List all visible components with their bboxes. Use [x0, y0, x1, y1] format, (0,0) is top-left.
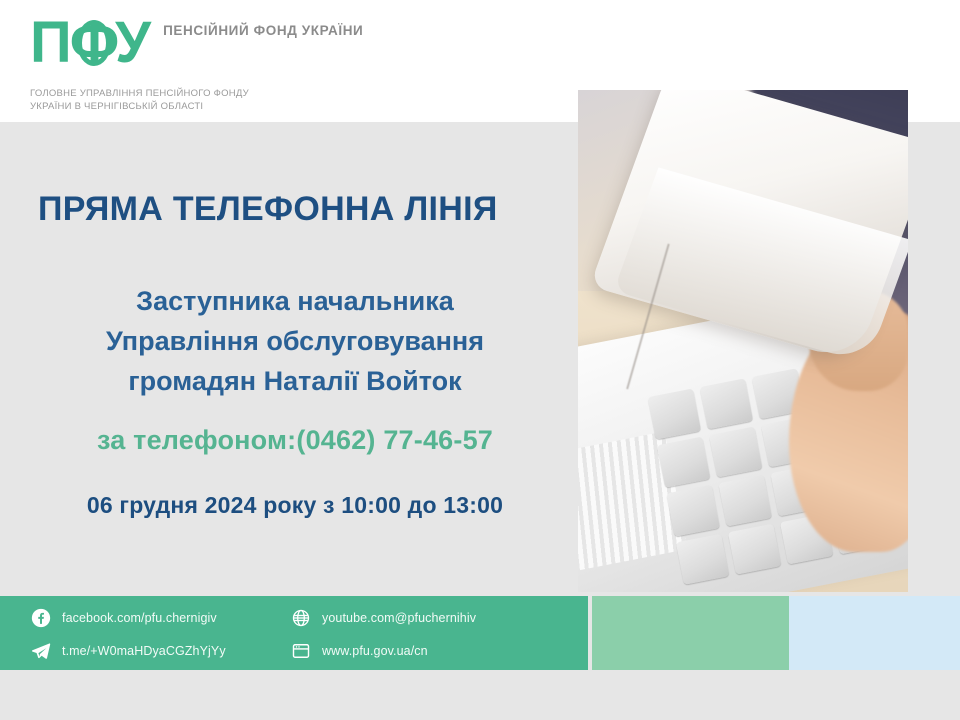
footer-link-youtube[interactable]: youtube.com@pfuchernihiv: [290, 604, 476, 632]
footer-links-left: facebook.com/pfu.chernigiv t.me/+W0maHDy…: [30, 604, 226, 665]
facebook-icon: [30, 607, 52, 629]
pfu-logo: ПФУ ПЕНСІЙНИЙ ФОНД УКРАЇНИ: [30, 12, 363, 74]
phone-number-line: за телефоном:(0462) 77-46-57: [30, 425, 560, 456]
photo-keypad-key: [676, 533, 729, 584]
announcement-subtitle: Заступника начальника Управління обслуго…: [30, 281, 560, 401]
footer-links-right: youtube.com@pfuchernihiv www.pfu.gov.ua/…: [290, 604, 476, 665]
photo-keypad-key: [647, 389, 700, 440]
date-time-line: 06 грудня 2024 року з 10:00 до 13:00: [30, 492, 560, 519]
department-subtitle: ГОЛОВНЕ УПРАВЛІННЯ ПЕНСІЙНОГО ФОНДУ УКРА…: [30, 88, 249, 113]
footer-link-telegram[interactable]: t.me/+W0maHDyaCGZhYjYy: [30, 637, 226, 665]
subtitle-line-3: громадян Наталії Войток: [30, 361, 560, 401]
photo-keypad-key: [699, 379, 752, 430]
telegram-icon: [30, 640, 52, 662]
announcement-title: ПРЯМА ТЕЛЕФОННА ЛІНІЯ: [38, 190, 558, 229]
photo-keypad-key: [657, 437, 710, 488]
subtitle-line-2: Управління обслуговування: [30, 321, 560, 361]
footer-link-website-text: www.pfu.gov.ua/cn: [322, 644, 428, 658]
pfu-logo-words: ПЕНСІЙНИЙ ФОНД УКРАЇНИ: [163, 12, 363, 39]
photo-keypad-key: [718, 475, 771, 526]
telephone-photo: [578, 90, 908, 592]
footer-link-telegram-text: t.me/+W0maHDyaCGZhYjYy: [62, 644, 226, 658]
photo-keypad-key: [728, 523, 781, 574]
photo-keypad-key: [709, 427, 762, 478]
globe-icon: [290, 607, 312, 629]
poster-canvas: ПФУ ПЕНСІЙНИЙ ФОНД УКРАЇНИ ГОЛОВНЕ УПРАВ…: [0, 0, 960, 720]
footer-link-facebook-text: facebook.com/pfu.chernigiv: [62, 611, 217, 625]
photo-keypad-key: [666, 485, 719, 536]
footer-link-website[interactable]: www.pfu.gov.ua/cn: [290, 637, 476, 665]
footer-band-light-blue: [789, 596, 960, 670]
subtitle-line-1: Заступника начальника: [30, 281, 560, 321]
pfu-logo-mark: ПФУ: [30, 12, 149, 74]
footer-band-mid-green: [592, 596, 789, 670]
footer-link-facebook[interactable]: facebook.com/pfu.chernigiv: [30, 604, 226, 632]
browser-window-icon: [290, 640, 312, 662]
footer-link-youtube-text: youtube.com@pfuchernihiv: [322, 611, 476, 625]
